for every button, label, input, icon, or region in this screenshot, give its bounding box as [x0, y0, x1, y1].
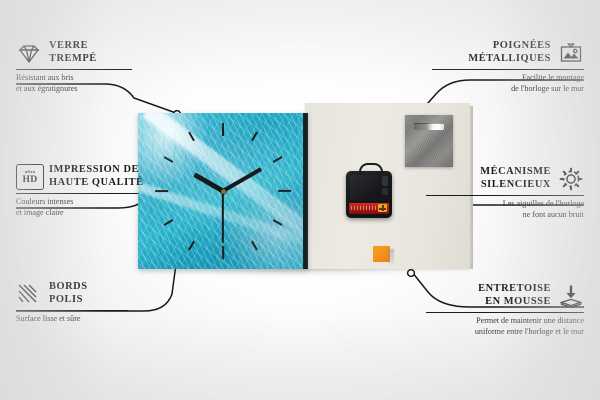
- callout-divider: [426, 312, 584, 313]
- callout-mecanisme-silencieux: MÉCANISME SILENCIEUX Les aiguilles de l'…: [388, 166, 584, 220]
- callout-header: POIGNÉES MÉTALLIQUES: [394, 40, 584, 66]
- glass-clock-panel: [138, 113, 308, 269]
- callout-title: VERRE TREMPÉ: [49, 40, 97, 65]
- callout-divider: [432, 69, 584, 70]
- glass-edge-side: [303, 113, 308, 269]
- callout-divider: [16, 193, 138, 194]
- callout-poignees-metalliques: POIGNÉES MÉTALLIQUES Facilite le montage…: [394, 40, 584, 94]
- callout-bords-polis: BORDS POLIS Surface lisse et sûre: [16, 281, 176, 325]
- hanger-slot: [414, 123, 444, 130]
- callout-title: POIGNÉES MÉTALLIQUES: [468, 40, 551, 65]
- diamond-icon: [16, 40, 42, 66]
- infographic-stage: VERRE TREMPÉ Résistant aux bris et aux é…: [0, 0, 600, 400]
- callout-header: MÉCANISME SILENCIEUX: [388, 166, 584, 192]
- callout-divider: [426, 195, 584, 196]
- aa-battery: [349, 203, 389, 214]
- callout-title: MÉCANISME SILENCIEUX: [480, 166, 551, 191]
- callout-description: Les aiguilles de l'horloge ne font aucun…: [388, 199, 584, 219]
- ultra-hd-badge-icon: ultra HD: [16, 164, 42, 190]
- battery-plus-terminal: [378, 204, 387, 212]
- picture-frame-hanger-icon: [558, 40, 584, 66]
- callout-title: ENTRETOISE EN MOUSSE: [478, 283, 551, 308]
- callout-divider: [16, 69, 132, 70]
- callout-title: BORDS POLIS: [49, 281, 88, 306]
- callout-description: Facilite le montage de l'horloge sur le …: [394, 73, 584, 93]
- down-arrow-on-block-icon: [558, 283, 584, 309]
- gear-icon: [558, 166, 584, 192]
- metal-hanger-plate: [405, 115, 453, 167]
- foam-spacer: [373, 246, 390, 262]
- callout-description: Surface lisse et sûre: [16, 314, 176, 324]
- callout-description: Permet de maintenir une distance uniform…: [388, 316, 584, 336]
- quartz-mechanism: [346, 171, 392, 218]
- polished-edge-lines-icon: [16, 281, 42, 307]
- callout-header: BORDS POLIS: [16, 281, 176, 307]
- callout-header: ENTRETOISE EN MOUSSE: [388, 283, 584, 309]
- callout-title: IMPRESSION DE HAUTE QUALITÉ: [49, 164, 144, 189]
- callout-description: Résistant aux bris et aux égratignures: [16, 73, 166, 93]
- hd-badge-box: ultra HD: [16, 164, 44, 190]
- glass-reflection-overlay: [138, 113, 308, 269]
- callout-verre-trempe: VERRE TREMPÉ Résistant aux bris et aux é…: [16, 40, 166, 94]
- callout-divider: [16, 310, 128, 311]
- callout-entretoise-en-mousse: ENTRETOISE EN MOUSSE Permet de maintenir…: [388, 283, 584, 337]
- callout-header: VERRE TREMPÉ: [16, 40, 166, 66]
